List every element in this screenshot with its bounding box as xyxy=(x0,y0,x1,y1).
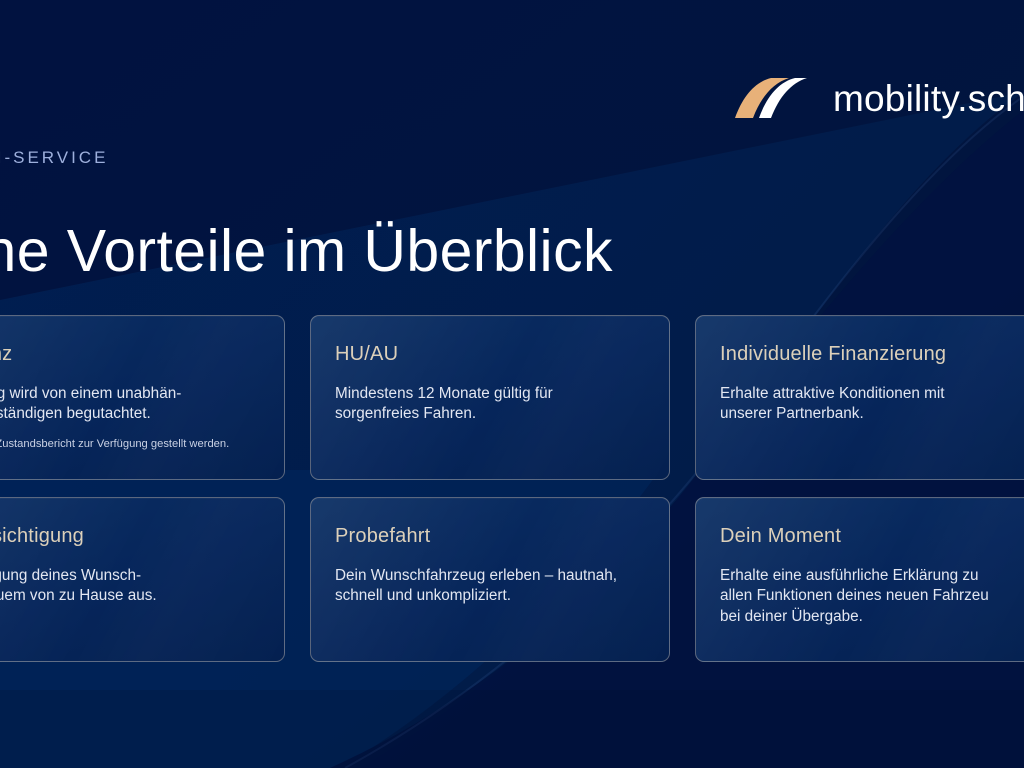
slide-canvas: mobility.sch UM-SERVICE ine Vorteile im … xyxy=(0,0,1024,768)
page-title: ine Vorteile im Überblick xyxy=(0,218,613,284)
benefit-card[interactable]: HU/AU Mindestens 12 Monate gültig für so… xyxy=(310,315,670,480)
benefit-card-note: kann ein Zustandsbericht zur Verfügung g… xyxy=(0,437,260,452)
benefit-card-title: HU/AU xyxy=(335,343,645,365)
benefit-card[interactable]: Probefahrt Dein Wunschfahrzeug erleben –… xyxy=(310,497,670,662)
benefit-card-body: Erhalte attraktive Konditionen mit unser… xyxy=(720,384,1024,425)
benefits-card-grid: parenz ahrzeug wird von einem unabhän- a… xyxy=(0,315,1024,662)
benefit-card[interactable]: Dein Moment Erhalte eine ausführliche Er… xyxy=(695,497,1024,662)
benefit-card[interactable]: Individuelle Finanzierung Erhalte attrak… xyxy=(695,315,1024,480)
benefit-card-title: e Besichtigung xyxy=(0,525,260,547)
brand-logo-text: mobility.sch xyxy=(833,80,1024,117)
eyebrow-label: UM-SERVICE xyxy=(0,148,108,168)
benefit-card[interactable]: e Besichtigung esichtigung deines Wunsch… xyxy=(0,497,285,662)
benefit-card-body: Mindestens 12 Monate gültig für sorgenfr… xyxy=(335,384,645,425)
benefit-card-body: Dein Wunschfahrzeug erleben – hautnah, s… xyxy=(335,566,645,607)
benefit-card-body: Erhalte eine ausführliche Erklärung zu a… xyxy=(720,566,1024,627)
benefit-card-title: Individuelle Finanzierung xyxy=(720,343,1024,365)
mobility-swoosh-logo-icon xyxy=(733,76,807,120)
benefit-card[interactable]: parenz ahrzeug wird von einem unabhän- a… xyxy=(0,315,285,480)
benefit-card-title: Probefahrt xyxy=(335,525,645,547)
benefit-card-body: ahrzeug wird von einem unabhän- achverst… xyxy=(0,384,260,425)
benefit-card-body: esichtigung deines Wunsch- gs bequem von… xyxy=(0,566,260,607)
bottom-vignette xyxy=(0,690,1024,768)
benefit-card-title: parenz xyxy=(0,343,260,365)
brand-logo[interactable]: mobility.sch xyxy=(733,70,1024,126)
benefit-card-title: Dein Moment xyxy=(720,525,1024,547)
